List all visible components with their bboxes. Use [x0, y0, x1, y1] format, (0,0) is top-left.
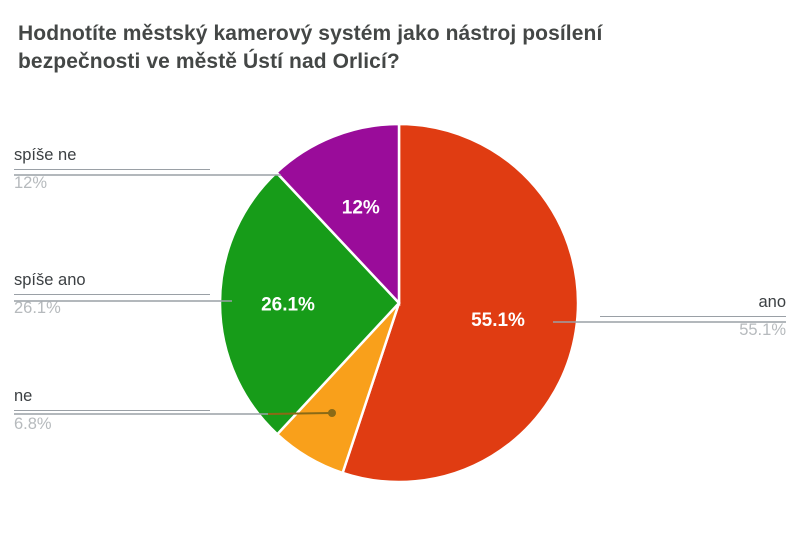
pie-slice-value-spíše-ano: 26.1% [261, 294, 315, 315]
callout-label-spise-ne: spíše ne [14, 144, 210, 166]
callout-value-ano: 55.1% [600, 319, 786, 341]
pie-chart: 55.1%26.1%12% [0, 0, 800, 533]
callout-label-ano: ano [600, 291, 786, 313]
callout-spise-ne: spíše ne 12% [14, 144, 210, 195]
callout-value-spise-ne: 12% [14, 172, 210, 194]
callout-label-spise-ano: spíše ano [14, 269, 210, 291]
pie-slice-value-spíše-ne: 12% [342, 198, 380, 219]
pie-chart-svg: 55.1%26.1%12% [0, 0, 800, 533]
callout-value-spise-ano: 26.1% [14, 297, 210, 319]
callout-rule-spise-ano [14, 294, 210, 295]
callout-spise-ano: spíše ano 26.1% [14, 269, 210, 320]
callout-rule-ne [14, 410, 210, 411]
pie-slice-value-ano: 55.1% [471, 310, 525, 331]
callout-value-ne: 6.8% [14, 413, 210, 435]
callout-label-ne: ne [14, 385, 210, 407]
chart-page: Hodnotíte městský kamerový systém jako n… [0, 0, 800, 533]
callout-rule-ano [600, 316, 786, 317]
callout-ano: ano 55.1% [600, 291, 786, 342]
callout-rule-spise-ne [14, 169, 210, 170]
callout-ne: ne 6.8% [14, 385, 210, 436]
